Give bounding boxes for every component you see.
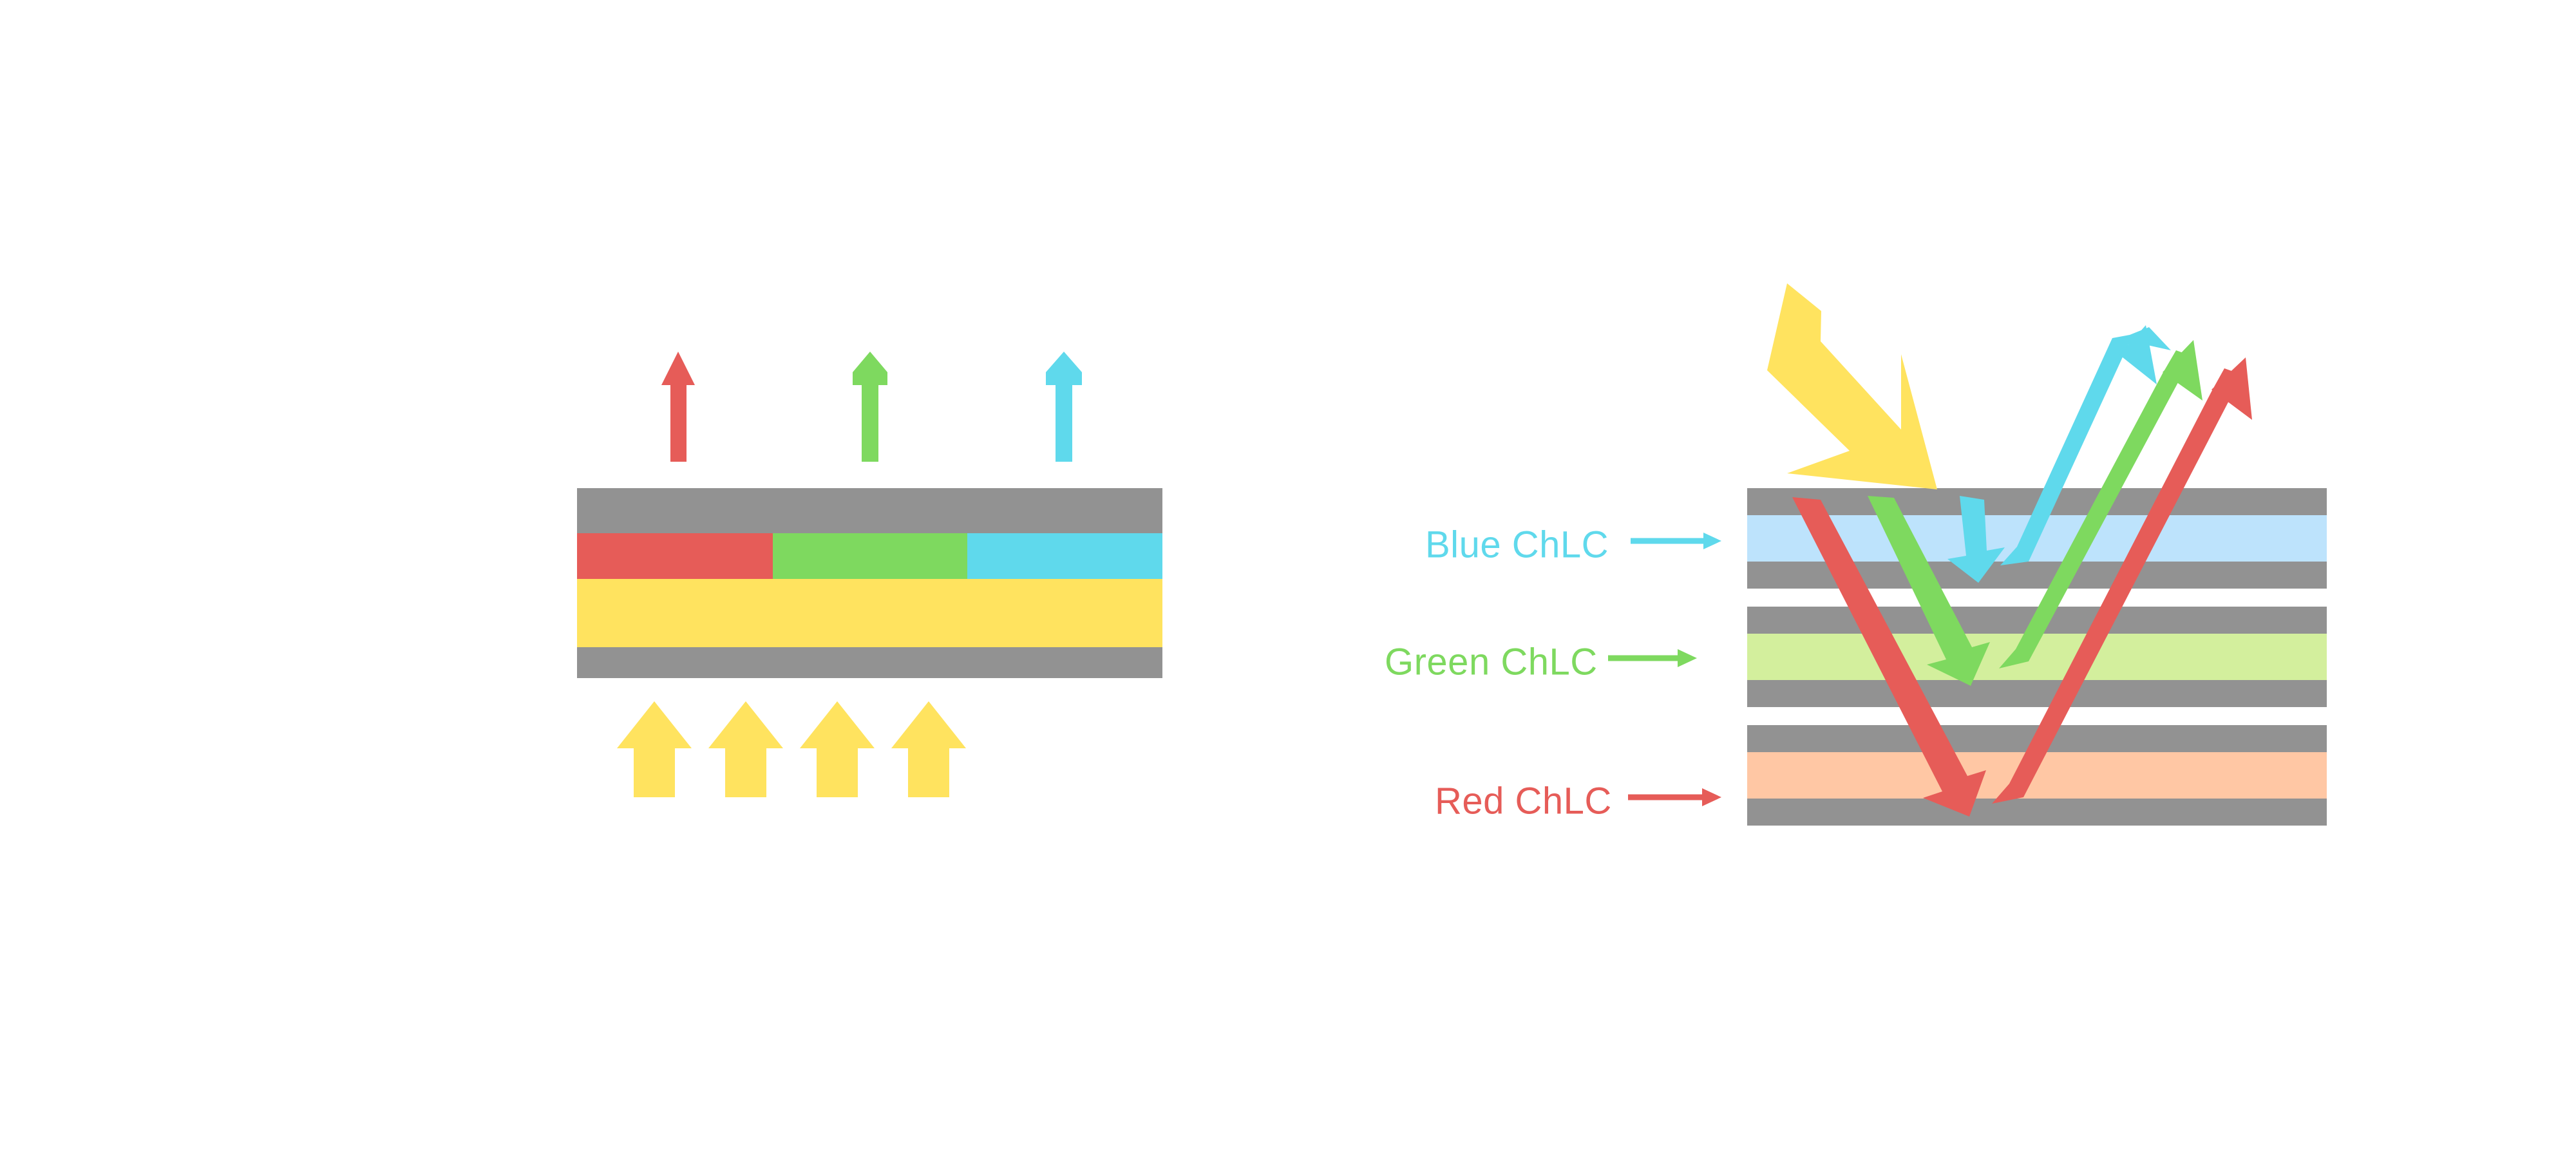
- bottom-electrode-layer: [577, 647, 1162, 678]
- left-stack: [577, 488, 1162, 678]
- label-blue-chlc-text: Blue ChLC: [1425, 524, 1609, 565]
- green-cell-bottom-electrode: [1747, 680, 2327, 707]
- label-red-chlc-text: Red ChLC: [1435, 780, 1612, 822]
- red-cell-bottom-electrode: [1747, 799, 2327, 826]
- top-electrode-layer: [577, 488, 1162, 533]
- filter-segment-blue: [967, 533, 1162, 579]
- diagram-canvas: Blue ChLC Green ChLC Red ChLC: [0, 0, 2576, 1154]
- filter-segment-green: [773, 533, 967, 579]
- backlight-layer: [577, 579, 1162, 647]
- label-green-chlc-text: Green ChLC: [1385, 641, 1598, 683]
- filter-segment-red: [577, 533, 773, 579]
- chlc-diagram-svg: Blue ChLC Green ChLC Red ChLC: [0, 0, 2576, 1154]
